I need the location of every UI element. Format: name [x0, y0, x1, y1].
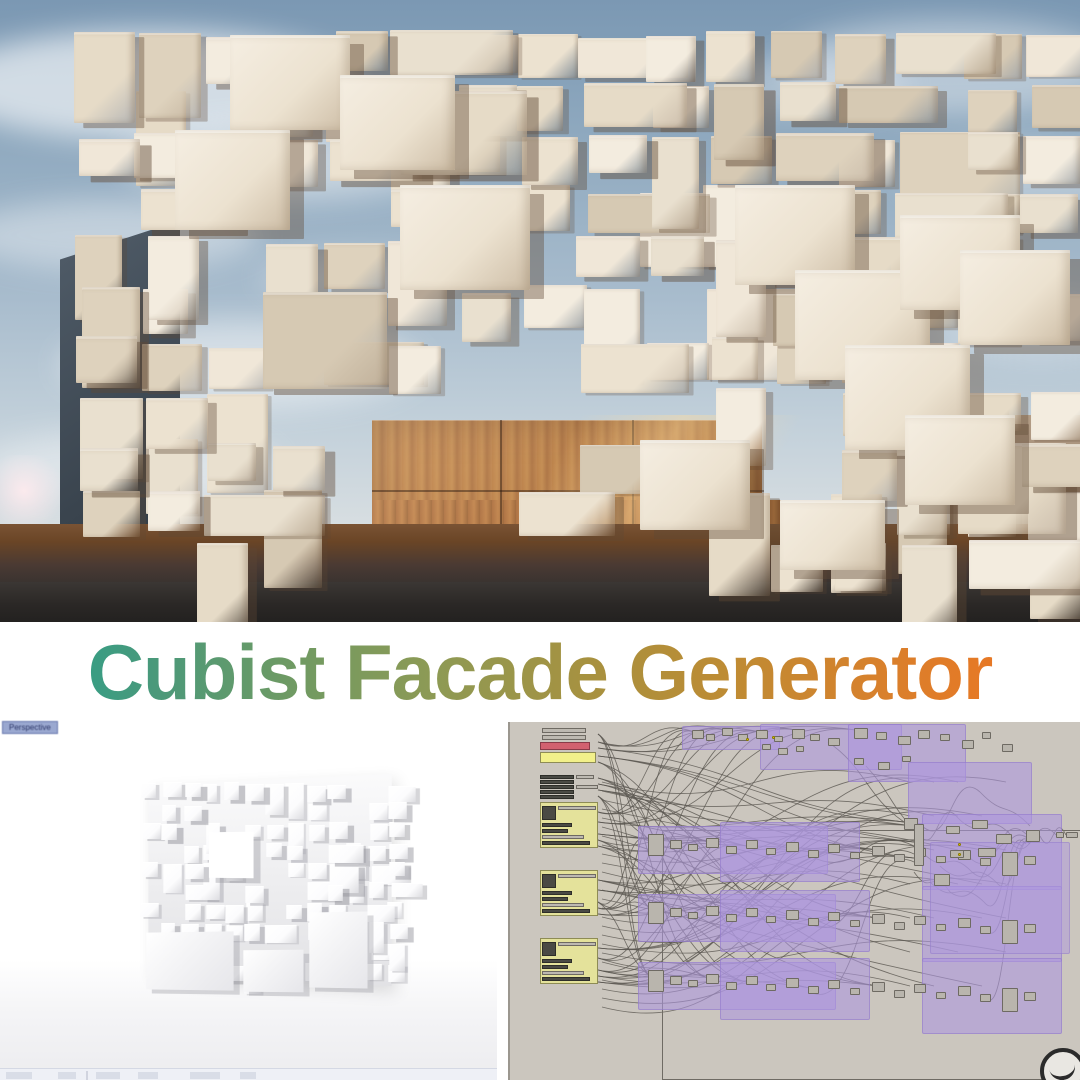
- facade-block: [1023, 136, 1080, 184]
- model-block: [390, 844, 408, 859]
- model-block: [184, 846, 199, 863]
- facade-block: [576, 236, 640, 277]
- facade-block: [1031, 392, 1080, 440]
- gh-param[interactable]: [540, 785, 574, 789]
- gh-component[interactable]: [746, 840, 758, 849]
- gh-component[interactable]: [746, 908, 758, 917]
- gh-component[interactable]: [980, 994, 991, 1002]
- gh-component[interactable]: [940, 734, 950, 741]
- model-block: [265, 784, 283, 816]
- model-block: [185, 783, 201, 797]
- gh-param[interactable]: [540, 780, 574, 784]
- facade-block-large: [400, 185, 530, 290]
- model-block: [389, 786, 416, 802]
- model-block: [245, 886, 264, 903]
- gh-component[interactable]: [792, 729, 805, 739]
- gh-component[interactable]: [854, 728, 868, 739]
- facade-block: [139, 33, 201, 118]
- facade-block: [969, 540, 1080, 589]
- facade-block-large: [175, 130, 290, 230]
- gh-param[interactable]: [540, 775, 574, 779]
- gh-component[interactable]: [854, 758, 864, 765]
- gh-component[interactable]: [914, 916, 926, 925]
- gh-component[interactable]: [894, 922, 905, 930]
- status-divider: [86, 1071, 88, 1080]
- gh-output-component[interactable]: [1026, 830, 1040, 842]
- gh-group-region[interactable]: [720, 890, 870, 952]
- gh-component[interactable]: [766, 984, 776, 991]
- gh-component[interactable]: [962, 740, 974, 749]
- gh-group-region[interactable]: [930, 842, 1070, 954]
- gh-component[interactable]: [648, 902, 664, 924]
- facade-block: [652, 137, 699, 229]
- facade-block: [1026, 35, 1080, 78]
- gh-param[interactable]: [542, 841, 590, 845]
- model-block: [388, 802, 407, 819]
- gh-component[interactable]: [894, 990, 905, 998]
- gh-param[interactable]: [542, 965, 568, 969]
- model-block-large: [243, 950, 303, 993]
- facade-block-large: [340, 75, 455, 170]
- gh-red-component[interactable]: [540, 742, 590, 750]
- gh-component[interactable]: [726, 914, 737, 922]
- gh-component[interactable]: [828, 844, 840, 853]
- gh-component[interactable]: [688, 844, 698, 851]
- model-block: [161, 824, 177, 840]
- facade-block: [204, 495, 325, 536]
- model-block: [368, 905, 396, 922]
- gh-param[interactable]: [542, 829, 568, 833]
- facade-block: [524, 285, 587, 328]
- facade-block: [771, 31, 822, 78]
- gh-component[interactable]: [808, 918, 819, 926]
- model-block: [142, 783, 157, 798]
- gh-component[interactable]: [978, 848, 996, 857]
- facade-block: [209, 348, 270, 389]
- facade-block: [148, 236, 199, 320]
- gh-component[interactable]: [670, 908, 682, 917]
- facade-block: [780, 82, 836, 121]
- gh-warning-dot: [958, 853, 961, 856]
- model-block: [369, 922, 383, 953]
- facade-block: [584, 83, 687, 127]
- gh-component[interactable]: [958, 918, 971, 928]
- grasshopper-canvas[interactable]: [508, 722, 1080, 1080]
- model-block: [184, 806, 202, 821]
- model-block: [371, 824, 388, 840]
- facade-block: [148, 491, 201, 531]
- gh-component[interactable]: [774, 736, 783, 742]
- model-block: [163, 864, 181, 893]
- facade-block: [324, 243, 385, 289]
- viewport-tab-perspective[interactable]: Perspective: [2, 721, 58, 734]
- status-item[interactable]: [138, 1072, 158, 1079]
- facade-block: [706, 31, 755, 81]
- gh-component[interactable]: [958, 986, 971, 996]
- gh-slider[interactable]: [558, 806, 596, 810]
- gh-warning-dot: [772, 736, 775, 739]
- gh-component[interactable]: [946, 826, 960, 834]
- model-block: [224, 782, 238, 800]
- gh-component[interactable]: [850, 852, 860, 859]
- facade-block: [1020, 194, 1078, 232]
- model-block: [143, 822, 161, 838]
- gh-component[interactable]: [950, 850, 964, 858]
- gh-component[interactable]: [878, 762, 890, 770]
- gh-component[interactable]: [914, 824, 924, 866]
- gh-component[interactable]: [980, 858, 991, 866]
- facade-block: [519, 492, 615, 537]
- gh-component[interactable]: [648, 970, 664, 992]
- model-block: [226, 905, 244, 923]
- facade-block: [142, 344, 202, 390]
- facade-block: [1032, 85, 1080, 128]
- gh-component[interactable]: [706, 838, 719, 848]
- facade-block-large: [960, 250, 1070, 345]
- gh-sampler-thumbnail[interactable]: [542, 942, 556, 956]
- facade-block: [83, 491, 141, 537]
- model-block-large: [309, 911, 367, 988]
- gh-component[interactable]: [1024, 856, 1036, 865]
- model-block: [392, 883, 423, 897]
- facade-block: [589, 135, 647, 174]
- gh-component[interactable]: [918, 730, 930, 739]
- gh-group-region[interactable]: [720, 958, 870, 1020]
- gh-component[interactable]: [1024, 924, 1036, 933]
- facade-block: [79, 139, 141, 177]
- model-block: [368, 846, 386, 861]
- facade-block-large: [230, 35, 350, 130]
- model-block: [328, 785, 346, 799]
- gh-component[interactable]: [872, 846, 885, 856]
- gh-output-terminal[interactable]: [1066, 832, 1078, 838]
- title-band: Cubist Facade Generator: [0, 622, 1080, 720]
- gh-param[interactable]: [542, 909, 590, 913]
- facade-block-large: [905, 415, 1015, 505]
- gh-component[interactable]: [1024, 992, 1036, 1001]
- model-block: [163, 782, 182, 797]
- gh-component[interactable]: [876, 732, 887, 740]
- gh-slider[interactable]: [542, 735, 586, 740]
- facade-block: [76, 336, 137, 383]
- facade-block: [896, 33, 996, 75]
- facade-block: [712, 337, 758, 380]
- gh-component[interactable]: [756, 730, 768, 739]
- gh-param[interactable]: [542, 959, 572, 963]
- gh-component[interactable]: [982, 732, 991, 739]
- facade-block-large: [780, 500, 885, 570]
- model-block: [185, 904, 201, 920]
- hero-render-image: [0, 0, 1080, 622]
- facade-block: [74, 32, 136, 123]
- gh-component[interactable]: [786, 842, 799, 852]
- facade-block: [522, 137, 578, 186]
- gh-component[interactable]: [726, 982, 737, 990]
- gh-component[interactable]: [872, 982, 885, 992]
- rhino-viewport-panel[interactable]: Perspective: [0, 720, 497, 1080]
- gh-component[interactable]: [914, 984, 926, 993]
- gh-component[interactable]: [778, 748, 788, 755]
- model-block-large: [146, 931, 233, 990]
- gh-sampler-thumbnail[interactable]: [542, 806, 556, 820]
- gh-component[interactable]: [810, 734, 820, 741]
- model-block: [265, 925, 297, 943]
- model-block: [244, 924, 259, 941]
- model-block: [389, 862, 405, 876]
- gh-output-terminal[interactable]: [1056, 832, 1064, 838]
- model-block: [203, 784, 217, 802]
- gh-component[interactable]: [894, 854, 905, 862]
- model-block: [288, 863, 304, 877]
- facade-block: [263, 292, 387, 389]
- gh-component[interactable]: [688, 980, 698, 987]
- facade-block: [146, 398, 209, 449]
- status-item[interactable]: [58, 1072, 76, 1079]
- gh-slider[interactable]: [542, 728, 586, 733]
- status-item[interactable]: [240, 1072, 256, 1079]
- gh-param[interactable]: [540, 790, 574, 794]
- gh-component[interactable]: [786, 910, 799, 920]
- gh-component[interactable]: [670, 840, 682, 849]
- gh-component[interactable]: [972, 820, 988, 829]
- gh-component[interactable]: [850, 920, 860, 927]
- status-item[interactable]: [96, 1072, 120, 1079]
- gh-component[interactable]: [648, 834, 664, 856]
- facade-block: [197, 543, 248, 622]
- facade-block: [839, 86, 938, 123]
- gh-slider[interactable]: [576, 775, 594, 779]
- facade-block: [651, 236, 704, 275]
- facade-block: [390, 30, 513, 75]
- facade-block: [462, 293, 511, 342]
- gh-component[interactable]: [872, 914, 885, 924]
- facade-block: [835, 34, 886, 85]
- gh-component[interactable]: [828, 912, 840, 921]
- gh-param[interactable]: [542, 891, 572, 895]
- model-block: [162, 805, 176, 821]
- gh-component[interactable]: [936, 856, 946, 863]
- gh-component[interactable]: [688, 912, 698, 919]
- facade-block: [646, 36, 696, 83]
- gh-param[interactable]: [542, 977, 590, 981]
- gh-component[interactable]: [706, 974, 719, 984]
- gh-component[interactable]: [1002, 744, 1013, 752]
- gh-component[interactable]: [746, 976, 758, 985]
- cubist-block-wall: [70, 30, 1080, 590]
- facade-block: [273, 446, 325, 491]
- gh-component[interactable]: [726, 846, 737, 854]
- gh-slider[interactable]: [558, 874, 596, 878]
- gh-component[interactable]: [1002, 920, 1018, 944]
- facade-block-large: [640, 440, 750, 530]
- gh-slider[interactable]: [542, 835, 584, 839]
- status-item[interactable]: [190, 1072, 220, 1079]
- model-block: [267, 843, 283, 857]
- facade-block: [968, 132, 1017, 170]
- model-block: [389, 822, 405, 837]
- gh-param[interactable]: [542, 897, 568, 901]
- facade-block: [389, 346, 442, 394]
- model-block: [328, 885, 343, 901]
- page-title: Cubist Facade Generator: [0, 626, 1080, 718]
- gh-component[interactable]: [766, 848, 776, 855]
- model-block: [185, 864, 203, 879]
- model-block: [369, 803, 387, 820]
- model-block-feature: [209, 832, 254, 878]
- gh-component[interactable]: [692, 730, 704, 739]
- model-block: [141, 903, 159, 917]
- gh-component[interactable]: [980, 926, 991, 934]
- gh-warning-dot: [746, 738, 749, 741]
- gh-param[interactable]: [540, 795, 574, 799]
- gh-component[interactable]: [936, 924, 946, 931]
- slide-root: Cubist Facade Generator Perspective: [0, 0, 1080, 1080]
- model-block: [369, 882, 383, 898]
- model-block: [309, 863, 327, 879]
- model-block: [389, 944, 405, 972]
- gh-slider[interactable]: [576, 785, 598, 789]
- gh-component[interactable]: [996, 834, 1012, 844]
- gh-component[interactable]: [936, 992, 946, 999]
- gh-component[interactable]: [828, 738, 840, 746]
- facade-block: [714, 84, 764, 160]
- gh-component[interactable]: [902, 756, 911, 762]
- facade-block: [80, 448, 138, 491]
- facade-block: [776, 133, 875, 181]
- gh-component[interactable]: [786, 978, 799, 988]
- gh-component[interactable]: [670, 976, 682, 985]
- model-block: [246, 903, 262, 921]
- gh-component[interactable]: [706, 906, 719, 916]
- model-block: [267, 825, 284, 839]
- model-block: [286, 846, 302, 860]
- model-block: [309, 825, 324, 841]
- model-block: [307, 785, 325, 801]
- cubist-wall-model: [130, 762, 398, 1012]
- gh-component[interactable]: [850, 988, 860, 995]
- model-block: [308, 804, 326, 820]
- gh-component[interactable]: [796, 746, 804, 752]
- model-block: [286, 905, 302, 919]
- gh-param[interactable]: [542, 823, 572, 827]
- model-block: [206, 905, 224, 919]
- model-block: [390, 924, 408, 939]
- facade-block: [1022, 444, 1080, 487]
- gh-slider[interactable]: [542, 903, 584, 907]
- gh-component[interactable]: [828, 980, 840, 989]
- model-block: [367, 964, 382, 980]
- facade-block: [842, 450, 897, 501]
- gh-slider[interactable]: [542, 971, 584, 975]
- gh-component[interactable]: [1002, 988, 1018, 1012]
- model-block: [329, 845, 364, 863]
- rhino-status-bar[interactable]: [0, 1068, 497, 1080]
- gh-component[interactable]: [706, 734, 715, 741]
- status-item[interactable]: [6, 1072, 32, 1079]
- gh-component[interactable]: [766, 916, 776, 923]
- model-block: [142, 862, 157, 877]
- facade-block: [208, 443, 256, 481]
- gh-component[interactable]: [808, 986, 819, 994]
- model-block: [329, 822, 348, 839]
- model-block: [285, 783, 303, 819]
- gh-component[interactable]: [722, 728, 733, 736]
- gh-slider[interactable]: [558, 942, 596, 946]
- gh-component[interactable]: [762, 744, 771, 750]
- gh-output-component[interactable]: [934, 874, 950, 886]
- model-block: [245, 784, 264, 801]
- facade-block: [518, 34, 579, 78]
- gh-sampler-thumbnail[interactable]: [542, 874, 556, 888]
- facade-block: [968, 90, 1017, 132]
- gh-component[interactable]: [898, 736, 911, 745]
- gh-component[interactable]: [808, 850, 819, 858]
- facade-block: [902, 545, 957, 622]
- gh-component[interactable]: [1002, 852, 1018, 876]
- gh-yellow-panel[interactable]: [540, 752, 596, 763]
- gh-warning-dot: [958, 843, 961, 846]
- facade-block: [581, 344, 690, 393]
